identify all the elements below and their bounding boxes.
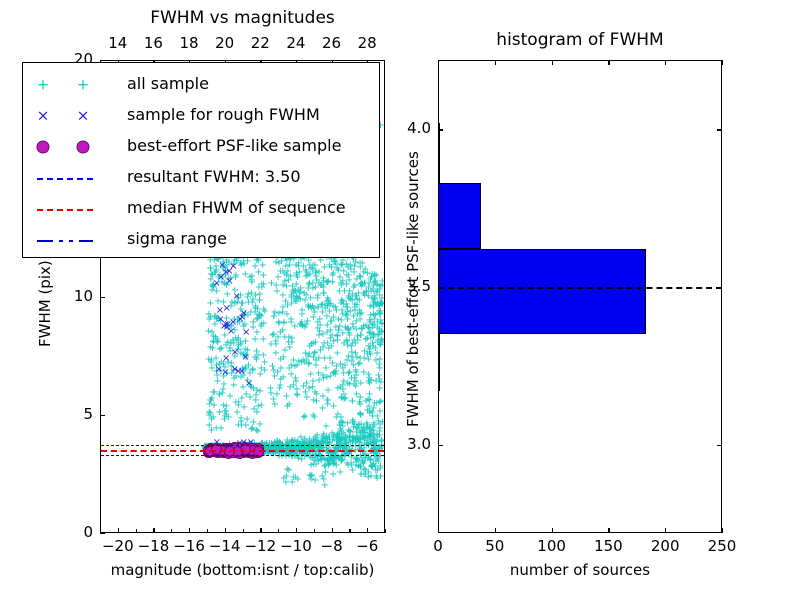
legend-cross-icon: ×: [37, 109, 50, 124]
scatter-point-all-sample: +: [230, 381, 238, 391]
histogram-bar: [438, 249, 646, 334]
scatter-point-all-sample: +: [224, 413, 232, 423]
right-xtick-label: 0: [433, 537, 443, 555]
scatter-point-all-sample: +: [309, 304, 317, 314]
scatter-point-all-sample: +: [206, 299, 214, 309]
legend-item[interactable]: median FHWM of sequence: [23, 194, 379, 225]
scatter-point-all-sample: +: [376, 384, 384, 394]
legend-item-label: sigma range: [127, 229, 227, 248]
scatter-point-all-sample: +: [352, 292, 360, 302]
scatter-point-rough-fwhm: ×: [225, 277, 233, 287]
scatter-point-rough-fwhm: ×: [217, 273, 225, 283]
right-xtick-label: 200: [651, 537, 680, 555]
scatter-point-all-sample: +: [220, 380, 228, 390]
scatter-point-all-sample: +: [205, 408, 213, 418]
scatter-point-all-sample: +: [256, 420, 264, 430]
scatter-point-all-sample: +: [291, 473, 299, 483]
scatter-point-all-sample: +: [324, 386, 332, 396]
scatter-point-all-sample: +: [302, 320, 310, 330]
left-xtick-label-top: 24: [286, 34, 305, 52]
left-xtick-label-bottom: −10: [280, 537, 312, 555]
right-ytick: [438, 445, 443, 446]
scatter-point-all-sample: +: [257, 401, 265, 411]
sigma-range-lower-line: [101, 455, 384, 456]
legend-dashdot-dot-icon: [69, 240, 73, 242]
scatter-point-all-sample: +: [295, 357, 303, 367]
left-ytick: [100, 297, 105, 298]
left-xtick-label-bottom: −12: [244, 537, 276, 555]
left-xtick-label-bottom: −20: [102, 537, 134, 555]
scatter-point-rough-fwhm: ×: [221, 320, 229, 330]
scatter-point-all-sample: +: [259, 261, 267, 271]
right-xtick-label: 150: [594, 537, 623, 555]
scatter-point-all-sample: +: [340, 267, 348, 277]
legend-plus-icon: +: [77, 78, 90, 93]
left-xtick-label-bottom: −6: [356, 537, 378, 555]
legend-item-label: median FHWM of sequence: [127, 198, 346, 217]
legend-dashed-line-icon: [37, 209, 93, 211]
scatter-point-all-sample: +: [377, 397, 384, 407]
scatter-point-all-sample: +: [292, 271, 300, 281]
legend-item-label: best-effort PSF-like sample: [127, 136, 341, 155]
left-xtick-bottom: [260, 528, 261, 533]
scatter-point-all-sample: +: [310, 456, 318, 466]
left-xtick-bottom-minor: [243, 529, 244, 533]
scatter-point-all-sample: +: [252, 355, 260, 365]
left-xtick-bottom: [367, 528, 368, 533]
legend-item[interactable]: ++all sample: [23, 70, 379, 101]
legend-item[interactable]: ××sample for rough FWHM: [23, 101, 379, 132]
left-yaxis-label: FWHM (pix): [36, 260, 54, 347]
scatter-point-all-sample: +: [348, 397, 356, 407]
scatter-point-rough-fwhm: ×: [222, 354, 230, 364]
scatter-point-rough-fwhm: ×: [229, 262, 237, 272]
histogram-bar: [438, 183, 481, 249]
scatter-point-all-sample: +: [375, 301, 383, 311]
right-xtick: [552, 528, 553, 533]
scatter-point-all-sample: +: [375, 364, 383, 374]
histogram-resultant-fwhm-line: [438, 287, 722, 289]
right-xtick-top: [665, 60, 666, 65]
scatter-point-all-sample: +: [307, 340, 315, 350]
left-xtick-bottom-minor: [278, 529, 279, 533]
scatter-point-all-sample: +: [275, 319, 283, 329]
scatter-point-all-sample: +: [209, 338, 217, 348]
scatter-point-all-sample: +: [376, 355, 384, 365]
legend-item-label: sample for rough FWHM: [127, 105, 320, 124]
legend-dashed-line-icon: [37, 178, 93, 180]
left-ytick-label: 10: [74, 287, 93, 305]
scatter-point-all-sample: +: [350, 262, 358, 272]
scatter-point-all-sample: +: [324, 461, 332, 471]
scatter-point-all-sample: +: [316, 321, 324, 331]
scatter-point-all-sample: +: [320, 339, 328, 349]
right-xtick-top: [552, 60, 553, 65]
scatter-point-all-sample: +: [368, 320, 376, 330]
right-yaxis-label: FWHM of best-effort PSF-like sources: [404, 151, 422, 427]
left-xtick-bottom-minor: [207, 529, 208, 533]
scatter-point-all-sample: +: [369, 331, 377, 341]
legend-marker-cell: [23, 194, 123, 225]
scatter-point-all-sample: +: [267, 389, 275, 399]
right-xtick-top: [438, 60, 439, 65]
scatter-point-all-sample: +: [222, 402, 230, 412]
scatter-point-all-sample: +: [349, 320, 357, 330]
left-xtick-bottom: [225, 528, 226, 533]
left-xtick-label-top: 22: [251, 34, 270, 52]
right-xtick: [665, 528, 666, 533]
scatter-point-all-sample: +: [374, 417, 382, 427]
right-xtick-label: 100: [537, 537, 566, 555]
left-xtick-bottom-minor: [385, 529, 386, 533]
scatter-point-all-sample: +: [357, 309, 365, 319]
right-xtick: [438, 528, 439, 533]
scatter-point-all-sample: +: [271, 400, 279, 410]
scatter-point-all-sample: +: [344, 341, 352, 351]
scatter-point-all-sample: +: [246, 273, 254, 283]
scatter-point-all-sample: +: [372, 457, 380, 467]
scatter-point-all-sample: +: [235, 401, 243, 411]
legend-item[interactable]: sigma range: [23, 225, 379, 256]
left-xtick-label-top: 26: [322, 34, 341, 52]
scatter-point-all-sample: +: [281, 277, 289, 287]
scatter-point-all-sample: +: [283, 402, 291, 412]
right-ytick: [438, 129, 443, 130]
legend-box: ++all sample××sample for rough FWHMbest-…: [22, 62, 380, 258]
scatter-point-all-sample: +: [322, 422, 330, 432]
legend-marker-cell: ++: [23, 70, 123, 101]
scatter-point-rough-fwhm: ×: [231, 348, 239, 358]
scatter-point-all-sample: +: [370, 270, 378, 280]
legend-plus-icon: +: [37, 78, 50, 93]
scatter-point-all-sample: +: [321, 304, 329, 314]
legend-cross-icon: ×: [77, 109, 90, 124]
scatter-point-rough-fwhm: ×: [221, 368, 229, 378]
legend-marker-cell: [23, 132, 123, 163]
scatter-point-all-sample: +: [288, 338, 296, 348]
legend-marker-cell: [23, 225, 123, 256]
left-xtick-bottom: [189, 528, 190, 533]
legend-marker-cell: [23, 163, 123, 194]
right-ytick-label: 4.0: [407, 119, 431, 137]
right-xaxis-label: number of sources: [510, 561, 650, 579]
left-ytick-label: 0: [83, 523, 93, 541]
right-xtick-label: 50: [485, 537, 504, 555]
left-xtick-label-bottom: −16: [173, 537, 205, 555]
scatter-point-rough-fwhm: ×: [232, 292, 240, 302]
scatter-point-all-sample: +: [350, 418, 358, 428]
scatter-point-all-sample: +: [272, 349, 280, 359]
legend-item-label: resultant FWHM: 3.50: [127, 167, 301, 186]
scatter-point-all-sample: +: [378, 319, 384, 329]
scatter-point-all-sample: +: [340, 377, 348, 387]
scatter-point-all-sample: +: [259, 335, 267, 345]
left-ytick: [100, 60, 105, 61]
scatter-point-all-sample: +: [270, 330, 278, 340]
left-plot-title: FWHM vs magnitudes: [150, 8, 335, 28]
right-plot-title: histogram of FWHM: [496, 30, 663, 50]
legend-marker-cell: ××: [23, 101, 123, 132]
right-ytick-right: [717, 287, 722, 288]
scatter-point-all-sample: +: [280, 474, 288, 484]
scatter-point-all-sample: +: [247, 289, 255, 299]
right-xtick-top: [608, 60, 609, 65]
scatter-point-all-sample: +: [342, 280, 350, 290]
left-xtick-label-bottom: −18: [138, 537, 170, 555]
scatter-point-all-sample: +: [328, 359, 336, 369]
scatter-point-all-sample: +: [313, 294, 321, 304]
scatter-point-rough-fwhm: ×: [216, 306, 224, 316]
scatter-point-all-sample: +: [207, 426, 215, 436]
right-ytick-right: [717, 129, 722, 130]
left-xtick-label-top: 28: [358, 34, 377, 52]
left-xtick-label-top: 14: [108, 34, 127, 52]
scatter-point-all-sample: +: [360, 470, 368, 480]
scatter-point-all-sample: +: [267, 279, 275, 289]
legend-circle-icon: [77, 141, 90, 154]
scatter-point-all-sample: +: [319, 374, 327, 384]
scatter-point-all-sample: +: [328, 331, 336, 341]
scatter-point-all-sample: +: [298, 306, 306, 316]
scatter-point-all-sample: +: [352, 428, 360, 438]
scatter-point-all-sample: +: [321, 481, 329, 491]
scatter-point-all-sample: +: [287, 318, 295, 328]
scatter-point-all-sample: +: [357, 379, 365, 389]
median-fwhm-line: [101, 450, 384, 452]
scatter-point-all-sample: +: [360, 279, 368, 289]
left-xaxis-label: magnitude (bottom:isnt / top:calib): [111, 561, 375, 579]
sigma-range-upper-line: [101, 445, 384, 446]
scatter-point-rough-fwhm: ×: [242, 328, 250, 338]
scatter-point-all-sample: +: [273, 368, 281, 378]
scatter-point-all-sample: +: [336, 433, 344, 443]
scatter-point-rough-fwhm: ×: [241, 353, 249, 363]
right-xtick-top: [722, 60, 723, 65]
scatter-point-all-sample: +: [312, 390, 320, 400]
legend-dashdot-line-icon: [37, 240, 53, 242]
right-xtick-top: [495, 60, 496, 65]
scatter-point-all-sample: +: [345, 368, 353, 378]
legend-dashdot-dot-icon: [59, 240, 63, 242]
scatter-point-all-sample: +: [325, 261, 333, 271]
scatter-point-all-sample: +: [357, 324, 365, 334]
left-xtick-label-top: 18: [180, 34, 199, 52]
left-xtick-bottom: [296, 528, 297, 533]
right-xtick: [608, 528, 609, 533]
scatter-point-all-sample: +: [259, 280, 267, 290]
right-ytick: [438, 287, 443, 288]
legend-item[interactable]: resultant FWHM: 3.50: [23, 163, 379, 194]
scatter-point-all-sample: +: [304, 271, 312, 281]
left-ytick: [100, 533, 105, 534]
scatter-point-all-sample: +: [349, 353, 357, 363]
histogram-bar: [438, 123, 440, 183]
scatter-point-all-sample: +: [204, 327, 212, 337]
scatter-point-all-sample: +: [309, 411, 317, 421]
scatter-point-all-sample: +: [293, 385, 301, 395]
legend-item-label: all sample: [127, 74, 209, 93]
scatter-point-all-sample: +: [206, 396, 214, 406]
scatter-point-all-sample: +: [253, 386, 261, 396]
scatter-point-all-sample: +: [373, 474, 381, 484]
scatter-point-all-sample: +: [366, 396, 374, 406]
left-xtick-label-bottom: −14: [209, 537, 241, 555]
left-ytick-label: 5: [83, 405, 93, 423]
scatter-point-all-sample: +: [365, 407, 373, 417]
scatter-point-all-sample: +: [307, 475, 315, 485]
scatter-point-all-sample: +: [297, 288, 305, 298]
left-ytick: [100, 415, 105, 416]
scatter-point-all-sample: +: [256, 311, 264, 321]
scatter-point-all-sample: +: [369, 310, 377, 320]
right-xtick: [495, 528, 496, 533]
scatter-point-all-sample: +: [257, 364, 265, 374]
scatter-point-all-sample: +: [252, 302, 260, 312]
scatter-point-all-sample: +: [344, 292, 352, 302]
histogram-bar: [438, 334, 440, 391]
scatter-point-all-sample: +: [279, 308, 287, 318]
left-xtick-bottom: [153, 528, 154, 533]
scatter-point-rough-fwhm: ×: [240, 309, 248, 319]
scatter-point-all-sample: +: [363, 421, 371, 431]
legend-circle-icon: [37, 141, 50, 154]
scatter-point-all-sample: +: [206, 313, 214, 323]
legend-dashdot-line-icon: [79, 240, 93, 242]
left-xtick-bottom: [332, 528, 333, 533]
left-xtick-label-top: 20: [215, 34, 234, 52]
left-xtick-bottom-minor: [314, 529, 315, 533]
right-ytick-label: 3.0: [407, 435, 431, 453]
left-xtick-bottom-minor: [349, 529, 350, 533]
scatter-point-all-sample: +: [234, 421, 242, 431]
scatter-point-all-sample: +: [251, 335, 259, 345]
left-xtick-bottom: [118, 528, 119, 533]
figure-canvas: ++++++++++++++++++++++++++++++++++++++++…: [0, 0, 800, 600]
scatter-point-all-sample: +: [318, 404, 326, 414]
right-xtick: [722, 528, 723, 533]
scatter-point-all-sample: +: [337, 413, 345, 423]
left-xtick-bottom-minor: [136, 529, 137, 533]
right-ytick-right: [717, 445, 722, 446]
scatter-point-all-sample: +: [349, 466, 357, 476]
scatter-point-all-sample: +: [360, 347, 368, 357]
scatter-point-all-sample: +: [367, 376, 375, 386]
scatter-point-all-sample: +: [376, 282, 384, 292]
scatter-point-rough-fwhm: ×: [234, 367, 242, 377]
right-xtick-label: 250: [708, 537, 737, 555]
scatter-point-all-sample: +: [351, 281, 359, 291]
left-xtick-label-top: 16: [144, 34, 163, 52]
left-xtick-label-bottom: −8: [321, 537, 343, 555]
scatter-point-rough-fwhm: ×: [245, 379, 253, 389]
scatter-point-all-sample: +: [300, 413, 308, 423]
legend-item[interactable]: best-effort PSF-like sample: [23, 132, 379, 163]
scatter-point-all-sample: +: [318, 281, 326, 291]
left-xtick-bottom-minor: [171, 529, 172, 533]
